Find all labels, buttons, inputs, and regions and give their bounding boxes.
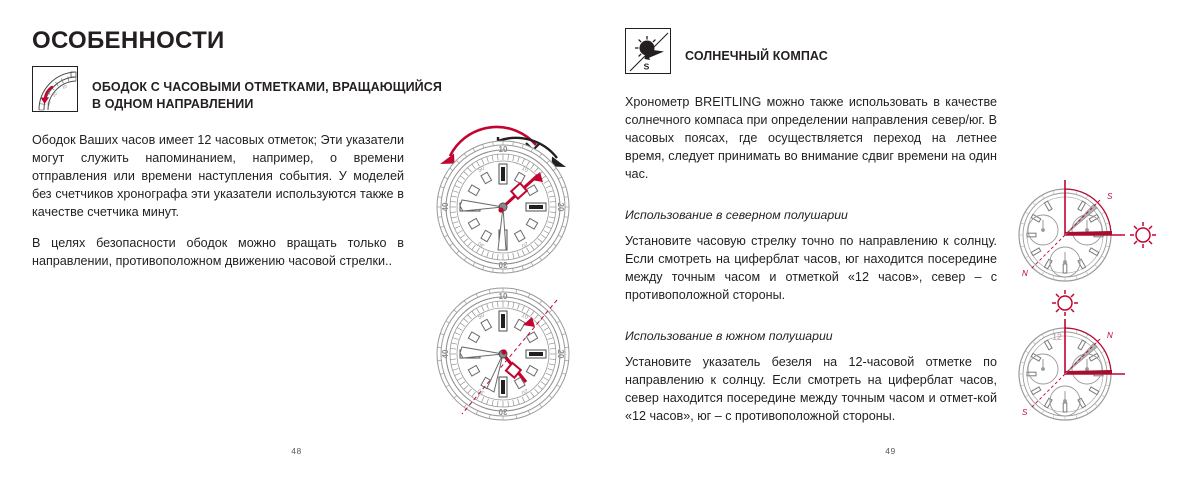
svg-text:10: 10	[499, 145, 508, 154]
intro-paragraph: Хронометр BREITLING можно также использо…	[625, 94, 997, 183]
page-title: ОСОБЕННОСТИ	[32, 28, 565, 54]
feature-heading-sun-compass: S СОЛНЕЧНЫЙ КОМПАС	[625, 28, 1160, 74]
figure-sun-compass-north: S N	[1000, 178, 1165, 298]
page-number-left: 48	[0, 446, 595, 456]
feature-title-line-1: ОБОДОК С ЧАСОВЫМИ ОТМЕТКАМИ, ВРАЩАЮЩИЙСЯ	[92, 79, 442, 96]
rotating-bezel-icon: 30 20 10	[32, 66, 78, 112]
right-body-text: Хронометр BREITLING можно также использо…	[625, 94, 997, 425]
svg-text:30: 30	[498, 407, 507, 416]
feature-title-bezel: ОБОДОК С ЧАСОВЫМИ ОТМЕТКАМИ, ВРАЩАЮЩИЙСЯ…	[92, 66, 442, 112]
marker-north-label: N	[1107, 331, 1113, 340]
paragraph: Установите часовую стрелку точно по напр…	[625, 233, 997, 305]
svg-text:12: 12	[1052, 332, 1062, 342]
paragraph: Установите указатель безеля на 12-часово…	[625, 354, 997, 426]
subhead-northern: Использование в северном полушарии	[625, 208, 997, 222]
marker-north-label: N	[1022, 269, 1028, 278]
section-northern-hemisphere: Использование в северном полушарии Устан…	[625, 208, 997, 305]
figure-watch-bezel-rotation: 10 20 30 40 10 20 30 50	[416, 112, 591, 287]
left-body-text: Ободок Ваших часов имеет 12 часовых отме…	[32, 132, 404, 270]
paragraph: Ободок Ваших часов имеет 12 часовых отме…	[32, 132, 404, 221]
svg-text:20: 20	[556, 203, 565, 212]
feature-heading-bezel: 30 20 10 ОБОДОК С ЧАСОВЫМИ ОТМЕТКАМИ, ВР…	[32, 66, 565, 112]
sun-compass-icon: S	[625, 28, 671, 74]
page-number-right: 49	[591, 446, 1190, 456]
feature-title-line-2: В ОДНОМ НАПРАВЛЕНИИ	[92, 96, 442, 113]
svg-text:40: 40	[441, 349, 450, 358]
svg-text:20: 20	[51, 91, 58, 98]
svg-text:20: 20	[556, 350, 565, 359]
marker-south-label: S	[1022, 408, 1028, 417]
feature-title-sun-compass: СОЛНЕЧНЫЙ КОМПАС	[685, 28, 828, 65]
figure-sun-compass-south: 12 N S	[1000, 288, 1165, 430]
svg-text:10: 10	[499, 292, 508, 301]
marker-south-label: S	[1107, 192, 1113, 201]
paragraph: В целях безопасности ободок можно вращат…	[32, 235, 404, 271]
section-southern-hemisphere: Использование в южном полушарии Установи…	[625, 329, 997, 426]
subhead-southern: Использование в южном полушарии	[625, 329, 997, 343]
sun-icon	[1052, 290, 1078, 316]
svg-text:30: 30	[498, 260, 507, 269]
sun-icon	[1130, 222, 1156, 248]
figure-watch-bezel-aligned: 10 20 30 40 10 20 30 50	[416, 282, 591, 442]
svg-text:10: 10	[61, 84, 68, 91]
svg-text:40: 40	[441, 202, 450, 211]
sun-compass-icon-label: S	[644, 62, 650, 72]
